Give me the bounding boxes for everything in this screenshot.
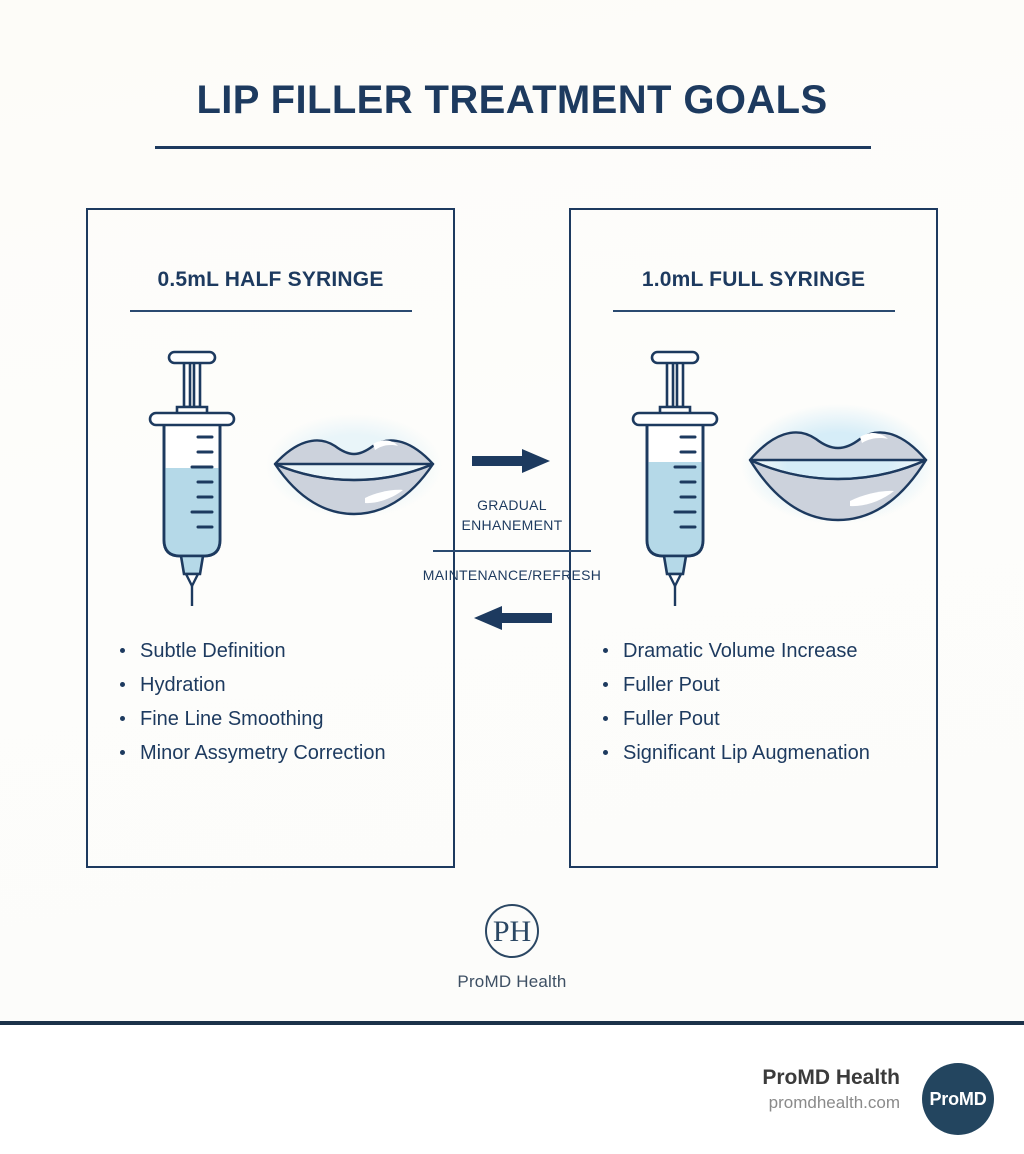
svg-text:PH: PH (493, 915, 531, 948)
list-item: Fuller Pout (597, 668, 926, 702)
list-item: Significant Lip Augmenation (597, 736, 926, 770)
connector-label-forward: GRADUAL ENHANEMENT (392, 495, 632, 535)
bullet-list-full: Dramatic Volume Increase Fuller Pout Ful… (597, 634, 926, 770)
connector-label-forward-line2: ENHANEMENT (392, 515, 632, 535)
footer-brand-name: ProMD Health (762, 1065, 900, 1091)
bullet-text: Fuller Pout (623, 708, 720, 730)
promd-badge-icon: ProMD (922, 1063, 994, 1135)
brand-center-name: ProMD Health (0, 972, 1024, 992)
bullet-text: Hydration (140, 674, 226, 696)
bullet-dot (603, 716, 608, 721)
panel-heading-half: 0.5mL HALF SYRINGE (88, 268, 453, 292)
arrow-left-icon (455, 605, 569, 636)
panel-heading-divider-full (613, 310, 895, 312)
list-item: Hydration (114, 668, 443, 702)
panel-half-syringe: 0.5mL HALF SYRINGE (86, 208, 455, 868)
bullet-dot (120, 682, 125, 687)
title-block: LIP FILLER TREATMENT GOALS (0, 74, 1024, 126)
list-item: Minor Assymetry Correction (114, 736, 443, 770)
lips-fuller-icon (740, 402, 936, 531)
bullet-list-half: Subtle Definition Hydration Fine Line Sm… (114, 634, 443, 770)
panel-heading-divider-half (130, 310, 412, 312)
footer-text-block: ProMD Health promdhealth.com (762, 1065, 900, 1115)
footer-bar: ProMD Health promdhealth.com ProMD (0, 1025, 1024, 1154)
bullet-dot (120, 750, 125, 755)
brand-center-block: PH ProMD Health (0, 903, 1024, 992)
list-item: Dramatic Volume Increase (597, 634, 926, 668)
bullet-text: Significant Lip Augmenation (623, 742, 870, 764)
connector-divider (433, 550, 591, 552)
connector-label-backward: MAINTENANCE/REFRESH (392, 565, 632, 585)
bullet-dot (603, 682, 608, 687)
panel-heading-full: 1.0mL FULL SYRINGE (571, 268, 936, 292)
promd-ph-monogram-icon: PH (0, 903, 1024, 964)
connector-label-forward-line1: GRADUAL (392, 495, 632, 515)
title-divider (155, 146, 871, 149)
infographic-canvas: LIP FILLER TREATMENT GOALS 0.5mL HALF SY… (0, 0, 1024, 1154)
panel-connector: GRADUAL ENHANEMENT MAINTENANCE/REFRESH (455, 440, 569, 640)
bullet-text: Dramatic Volume Increase (623, 640, 858, 662)
bullet-text: Subtle Definition (140, 640, 286, 662)
list-item: Subtle Definition (114, 634, 443, 668)
bullet-dot (603, 648, 608, 653)
list-item: Fine Line Smoothing (114, 702, 443, 736)
bullet-text: Fuller Pout (623, 674, 720, 696)
bullet-dot (603, 750, 608, 755)
syringe-half-filled-icon (132, 340, 252, 615)
bullet-dot (120, 716, 125, 721)
syringe-full-filled-icon (615, 340, 735, 615)
arrow-right-icon (455, 448, 569, 479)
bullet-text: Minor Assymetry Correction (140, 742, 386, 764)
footer-url[interactable]: promdhealth.com (762, 1091, 900, 1115)
list-item: Fuller Pout (597, 702, 926, 736)
panel-full-syringe: 1.0mL FULL SYRINGE (569, 208, 938, 868)
bullet-text: Fine Line Smoothing (140, 708, 323, 730)
bullet-dot (120, 648, 125, 653)
page-title: LIP FILLER TREATMENT GOALS (0, 74, 1024, 126)
